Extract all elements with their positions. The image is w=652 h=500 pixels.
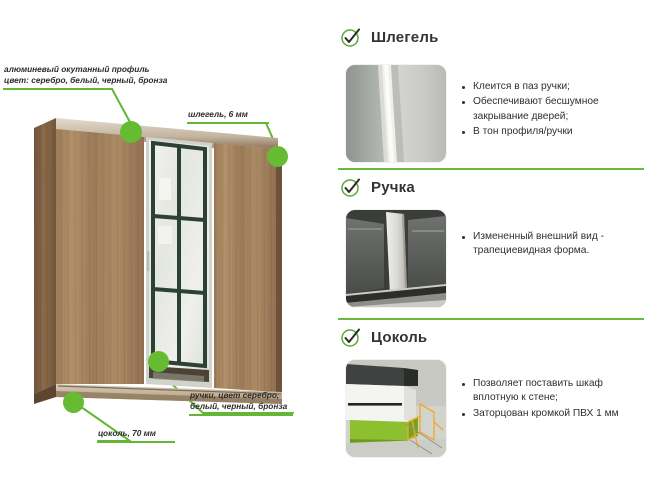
feature-bullets-handle: Измененный внешний вид - трапециевидная … — [460, 230, 650, 260]
feature-header-shlegel: Шлегель — [340, 22, 439, 52]
callout-underline-shlegel — [187, 122, 269, 124]
product-illustration-panel: алюминевый окутанный профиль цвет: сереб… — [0, 0, 330, 500]
feature-header-plinth: Цоколь — [340, 322, 427, 352]
feature-divider — [338, 318, 644, 320]
wardrobe-handle-mirror — [147, 251, 149, 271]
callout-dot-handles — [148, 351, 169, 372]
bullet-item: Обеспечивают бесшумное закрывание дверей… — [460, 95, 650, 124]
feature-card-plinth: Цоколь — [330, 322, 652, 472]
slide-root: алюминевый окутанный профиль цвет: сереб… — [0, 0, 652, 500]
feature-divider — [338, 168, 644, 170]
feature-title-handle: Ручка — [371, 179, 415, 196]
feature-bullets-plinth: Позволяет поставить шкаф вплотную к стен… — [460, 377, 650, 422]
callout-underline-profile — [3, 88, 113, 90]
callout-dot-profile — [120, 121, 142, 143]
callout-shlegel-line1: шлегель, 6 мм — [188, 109, 248, 120]
feature-thumbnail-handle — [346, 210, 446, 307]
feature-card-handle: Ручка — [330, 172, 652, 312]
check-circle-icon — [340, 26, 362, 48]
callout-underline-handles — [189, 414, 293, 416]
feature-thumbnail-plinth — [346, 360, 446, 457]
bullet-item: Позволяет поставить шкаф вплотную к стен… — [460, 377, 650, 406]
callout-label-profile: алюминевый окутанный профиль цвет: сереб… — [4, 64, 167, 85]
callout-profile-line2: цвет: серебро, белый, черный, бронза — [4, 75, 167, 86]
check-circle-icon — [340, 176, 362, 198]
callout-handles-line1: ручки, цвет серебро, — [190, 390, 287, 401]
feature-list-panel: Шлегель — [330, 0, 652, 500]
bullet-item: Клеится в паз ручки; — [460, 80, 650, 94]
callout-handles-line2: белый, черный, бронза — [190, 401, 287, 412]
bullet-item: Заторцован кромкой ПВХ 1 мм — [460, 407, 650, 421]
callout-underline-plinth — [97, 441, 175, 443]
check-circle-icon — [340, 326, 362, 348]
feature-thumbnail-shlegel — [346, 65, 446, 162]
plinth-green-body — [350, 420, 408, 440]
callout-label-handles: ручки, цвет серебро, белый, черный, брон… — [190, 390, 287, 411]
callout-dot-plinth — [63, 392, 84, 413]
feature-title-plinth: Цоколь — [371, 329, 427, 346]
callout-profile-line1: алюминевый окутанный профиль — [4, 64, 167, 75]
callout-plinth-line1: цоколь, 70 мм — [98, 428, 156, 439]
bullet-item: В тон профиля/ручки — [460, 125, 650, 139]
feature-title-shlegel: Шлегель — [371, 29, 439, 46]
bullet-item: Измененный внешний вид - трапециевидная … — [460, 230, 650, 259]
feature-card-shlegel: Шлегель — [330, 22, 652, 162]
callout-label-shlegel: шлегель, 6 мм — [188, 109, 248, 120]
callout-label-plinth: цоколь, 70 мм — [98, 428, 156, 439]
feature-bullets-shlegel: Клеится в паз ручки; Обеспечивают бесшум… — [460, 80, 650, 141]
callout-dot-shlegel — [267, 146, 288, 167]
feature-header-handle: Ручка — [340, 172, 415, 202]
